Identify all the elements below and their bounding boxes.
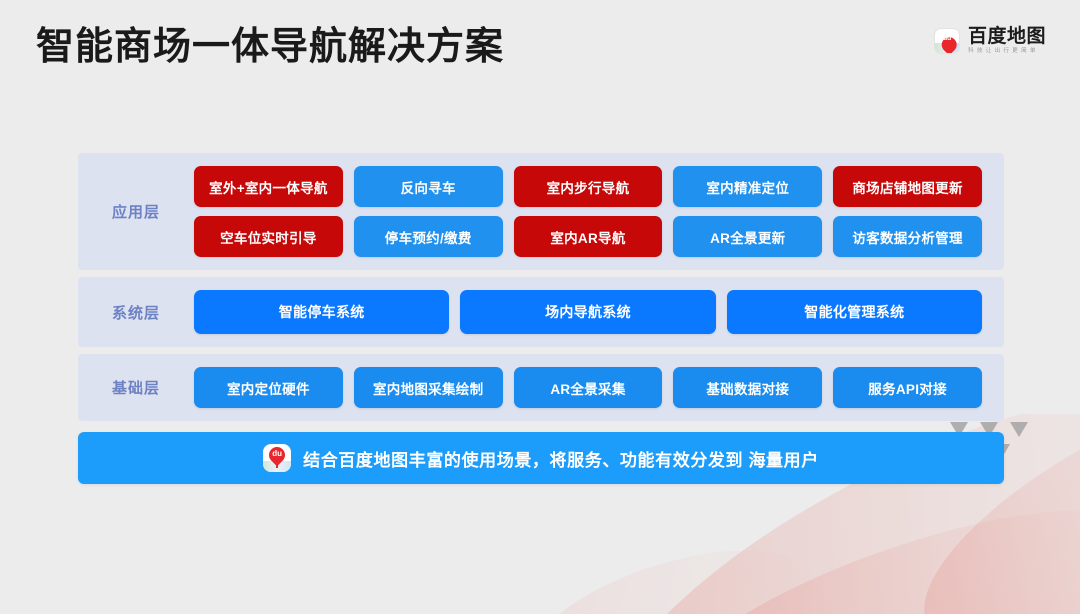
chip-intelligent-management-system[interactable]: 智能化管理系统 bbox=[727, 290, 982, 334]
chip-service-api-integration[interactable]: 服务API对接 bbox=[833, 367, 982, 408]
chip-reverse-car-finding[interactable]: 反向寻车 bbox=[354, 166, 503, 207]
chip-parking-reservation-payment[interactable]: 停车预约/缴费 bbox=[354, 216, 503, 257]
chip-indoor-ar-navigation[interactable]: 室内AR导航 bbox=[514, 216, 663, 257]
chip-indoor-map-collection[interactable]: 室内地图采集绘制 bbox=[354, 367, 503, 408]
page-title: 智能商场一体导航解决方案 bbox=[36, 20, 504, 74]
chip-indoor-positioning-hardware[interactable]: 室内定位硬件 bbox=[194, 367, 343, 408]
layer-row: 智能停车系统 场内导航系统 智能化管理系统 bbox=[194, 290, 982, 334]
chip-visitor-data-analysis[interactable]: 访客数据分析管理 bbox=[833, 216, 982, 257]
map-pin-icon: du bbox=[934, 28, 960, 54]
layer-band-system: 系统层 智能停车系统 场内导航系统 智能化管理系统 bbox=[78, 277, 1004, 347]
chip-basic-data-integration[interactable]: 基础数据对接 bbox=[673, 367, 822, 408]
layer-label-system: 系统层 bbox=[78, 302, 194, 323]
layer-label-application: 应用层 bbox=[78, 201, 194, 222]
triangle-icon bbox=[1010, 422, 1028, 437]
chip-empty-parking-guidance[interactable]: 空车位实时引导 bbox=[194, 216, 343, 257]
brand-name: 百度地图 bbox=[968, 26, 1046, 47]
layer-row: 室外+室内一体导航 反向寻车 室内步行导航 室内精准定位 商场店铺地图更新 bbox=[194, 166, 982, 207]
chip-indoor-walking-navigation[interactable]: 室内步行导航 bbox=[514, 166, 663, 207]
chip-ar-panorama-update[interactable]: AR全景更新 bbox=[673, 216, 822, 257]
banner-logo-text: du bbox=[272, 449, 282, 459]
chip-mall-store-map-update[interactable]: 商场店铺地图更新 bbox=[833, 166, 982, 207]
banner-text: 结合百度地图丰富的使用场景，将服务、功能有效分发到 海量用户 bbox=[303, 446, 819, 471]
layer-band-foundation: 基础层 室内定位硬件 室内地图采集绘制 AR全景采集 基础数据对接 服务API对… bbox=[78, 354, 1004, 421]
layer-row: 室内定位硬件 室内地图采集绘制 AR全景采集 基础数据对接 服务API对接 bbox=[194, 367, 982, 408]
chip-outdoor-indoor-navigation[interactable]: 室外+室内一体导航 bbox=[194, 166, 343, 207]
layer-band-application: 应用层 室外+室内一体导航 反向寻车 室内步行导航 室内精准定位 商场店铺地图更… bbox=[78, 153, 1004, 270]
baidu-map-brand-logo: du 百度地图 科技让出行更简单 bbox=[934, 26, 1046, 56]
slide-header: 智能商场一体导航解决方案 du 百度地图 科技让出行更简单 bbox=[0, 0, 1080, 112]
decorative-swoosh-4 bbox=[509, 521, 831, 614]
layer-label-foundation: 基础层 bbox=[78, 377, 194, 398]
brand-logo-text: du bbox=[943, 34, 951, 43]
brand-tagline: 科技让出行更简单 bbox=[968, 47, 1043, 56]
layer-row: 空车位实时引导 停车预约/缴费 室内AR导航 AR全景更新 访客数据分析管理 bbox=[194, 216, 982, 257]
map-pin-icon: du bbox=[263, 444, 291, 472]
chip-smart-parking-system[interactable]: 智能停车系统 bbox=[194, 290, 449, 334]
architecture-diagram: 应用层 室外+室内一体导航 反向寻车 室内步行导航 室内精准定位 商场店铺地图更… bbox=[78, 153, 1004, 428]
bottom-banner: du 结合百度地图丰富的使用场景，将服务、功能有效分发到 海量用户 bbox=[78, 432, 1004, 484]
chip-ar-panorama-collection[interactable]: AR全景采集 bbox=[514, 367, 663, 408]
chip-venue-navigation-system[interactable]: 场内导航系统 bbox=[460, 290, 715, 334]
chip-indoor-precise-positioning[interactable]: 室内精准定位 bbox=[673, 166, 822, 207]
